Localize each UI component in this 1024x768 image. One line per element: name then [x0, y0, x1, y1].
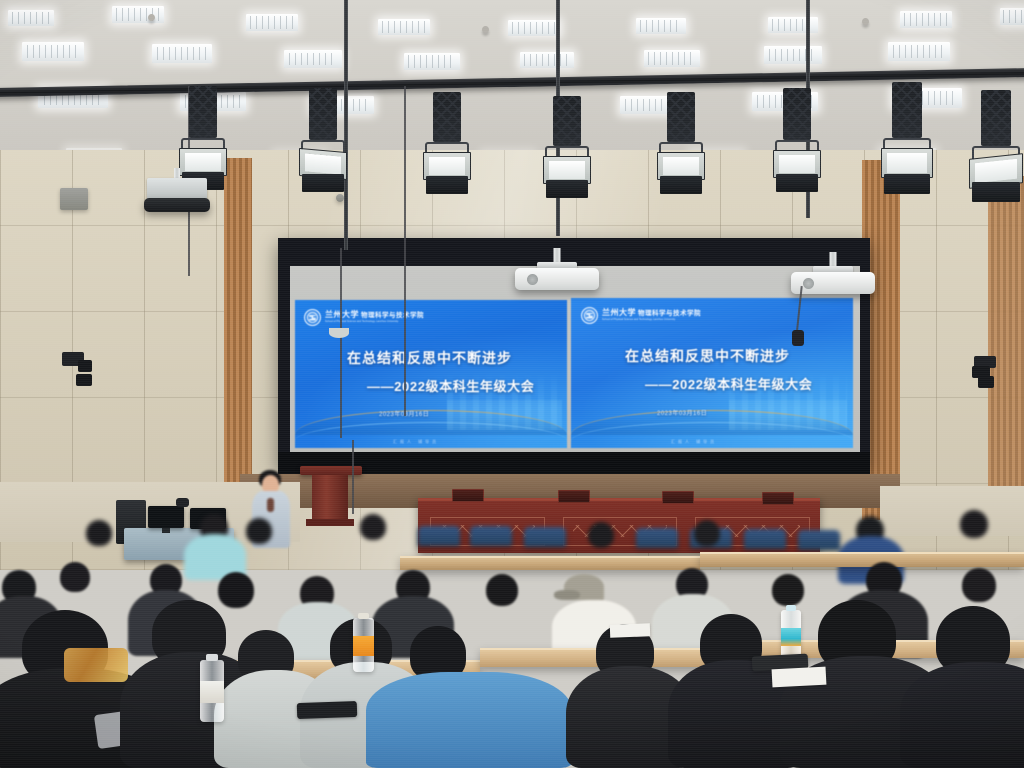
stage-light — [420, 92, 474, 202]
handout-paper[interactable] — [772, 667, 827, 688]
screen-backdrop — [278, 452, 870, 474]
mic-stand-cable — [352, 440, 354, 514]
hanging-cable — [404, 86, 406, 416]
water-bottle[interactable] — [200, 660, 224, 722]
ceiling-light-panel — [152, 44, 212, 63]
audience-head — [960, 510, 988, 538]
mobile-phone[interactable] — [297, 701, 358, 719]
chair — [798, 530, 840, 550]
university-seal-icon — [581, 307, 598, 324]
slide-title: 在总结和反思中不断进步 — [625, 346, 790, 366]
ceiling-light-panel — [768, 17, 818, 33]
water-bottle[interactable] — [353, 618, 374, 672]
projected-slide-right: 兰州大学物理科学与技术学院 School of Physical Science… — [571, 298, 853, 448]
bottle-cap-icon — [786, 605, 796, 611]
stage-light — [296, 88, 350, 198]
lecture-hall-photo: 兰州大学物理科学与技术学院 School of Physical Science… — [0, 0, 1024, 768]
ceiling-light-panel — [520, 52, 574, 68]
audience-head — [962, 568, 996, 602]
projector-lens-icon — [527, 274, 538, 285]
ceiling-projector-left — [514, 248, 600, 296]
slide-org-name: 兰州大学物理科学与技术学院 — [602, 309, 701, 318]
slide-subtitle: ——2022级本科生年级大会 — [367, 376, 534, 395]
wall-speaker-icon — [60, 188, 88, 210]
bottle-label — [781, 628, 801, 647]
chair — [744, 529, 786, 549]
audience-head — [694, 520, 720, 546]
ceiling-projector-right — [790, 252, 876, 300]
wall-camera-icon — [62, 352, 100, 392]
stage-light — [654, 92, 708, 202]
stage-light — [770, 88, 824, 198]
table-nameplate — [558, 490, 590, 503]
ceiling-light-panel — [112, 6, 164, 23]
audience-front-rows — [0, 600, 1024, 768]
handout-paper[interactable] — [610, 623, 650, 637]
projected-slide-left: 兰州大学物理科学与技术学院 School of Physical Science… — [295, 300, 567, 448]
slide-subtitle: ——2022级本科生年级大会 — [645, 374, 812, 393]
hanging-cable — [340, 248, 342, 438]
ceiling-light-panel — [284, 50, 342, 68]
chair — [636, 528, 678, 548]
slide-footer: 汇报人 辅导员 — [671, 439, 717, 445]
jacket-embroidery — [64, 648, 128, 682]
audience-body — [900, 662, 1024, 768]
slide-title: 在总结和反思中不断进步 — [347, 348, 512, 368]
audience-head — [86, 520, 112, 546]
wood-slat-panel-far-right — [988, 176, 1024, 506]
ceiling-light-panel — [764, 46, 822, 64]
ceiling-light-panel — [8, 10, 54, 26]
projector-lens-icon — [803, 278, 814, 289]
slide-footer: 汇报人 辅导员 — [393, 439, 439, 445]
hanging-lamp-icon — [329, 328, 351, 342]
ceiling-projector-far-left — [138, 168, 216, 216]
ceiling-light-panel — [644, 50, 700, 67]
stage-light — [540, 96, 594, 206]
chair — [524, 527, 566, 547]
stage-light — [878, 82, 936, 200]
audience-head — [588, 522, 614, 548]
audience-head — [360, 514, 386, 540]
ceiling-light-panel — [246, 14, 298, 31]
ceiling-light-panel — [900, 11, 952, 28]
table-nameplate — [452, 489, 484, 502]
hanging-microphone-icon — [792, 330, 806, 350]
audience-head — [60, 562, 90, 592]
smoke-detector-icon — [482, 26, 489, 33]
cap-brim-icon — [554, 590, 580, 600]
table-nameplate — [662, 491, 694, 504]
ceiling-light-panel — [1000, 8, 1024, 25]
chair — [418, 526, 460, 546]
bottle-cap-icon — [206, 654, 218, 661]
slide-date: 2023年03月16日 — [657, 408, 707, 417]
ceiling-light-panel — [22, 42, 84, 61]
bottle-cap-icon — [358, 613, 368, 619]
slide-logo: 兰州大学物理科学与技术学院 School of Physical Science… — [304, 309, 424, 326]
ceiling-light-panel — [888, 42, 950, 61]
university-seal-icon — [304, 309, 321, 326]
ceiling-light-panel — [378, 19, 430, 35]
bottle-label — [353, 636, 374, 655]
stage-light — [966, 90, 1024, 210]
ceiling-light-panel — [508, 20, 560, 36]
smoke-detector-icon — [148, 14, 155, 21]
slide-logo: 兰州大学物理科学与技术学院 School of Physical Science… — [581, 307, 701, 324]
smoke-detector-icon — [862, 18, 869, 25]
slide-org-name-en: School of Physical Science and Technolog… — [602, 319, 701, 321]
wood-slat-panel-left — [224, 158, 252, 498]
bottle-label — [200, 681, 224, 703]
ceiling-light-panel — [636, 18, 686, 34]
ceiling-light-panel — [404, 53, 460, 70]
wall-camera-icon — [970, 356, 1004, 396]
audience-head — [246, 518, 272, 544]
audience-body — [366, 672, 572, 768]
chair — [470, 526, 512, 546]
